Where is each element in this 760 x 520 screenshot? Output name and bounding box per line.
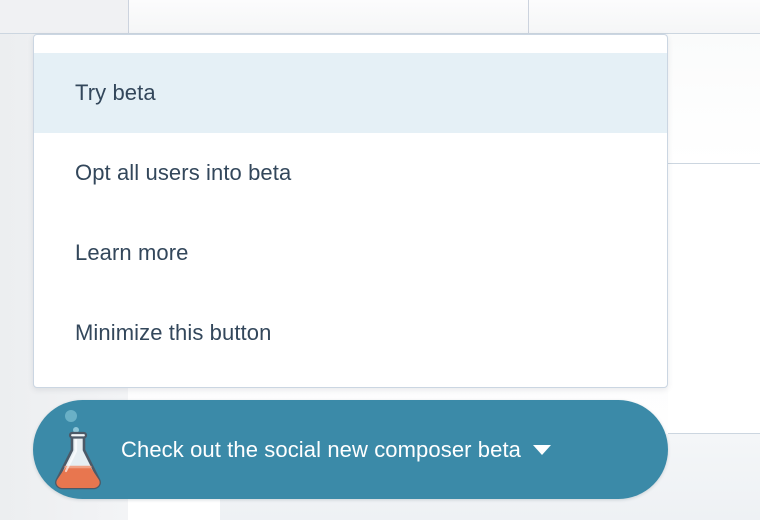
background-header-middle-cell: [128, 0, 528, 33]
menu-item-label: Learn more: [75, 240, 189, 266]
menu-item-try-beta[interactable]: Try beta: [34, 53, 667, 133]
screen-root: Try beta Opt all users into beta Learn m…: [0, 0, 760, 520]
menu-item-minimize-button[interactable]: Minimize this button: [34, 293, 667, 373]
background-header-right-cell: [529, 0, 760, 33]
menu-item-label: Try beta: [75, 80, 156, 106]
chevron-down-icon[interactable]: [533, 445, 551, 455]
flask-icon: [49, 409, 111, 491]
menu-item-opt-all-users[interactable]: Opt all users into beta: [34, 133, 667, 213]
beta-promo-button[interactable]: Check out the social new composer beta: [33, 400, 668, 499]
background-row-divider-upper: [668, 163, 760, 164]
background-column-divider-left: [128, 0, 129, 33]
background-column-divider-right: [528, 0, 529, 33]
beta-options-menu: Try beta Opt all users into beta Learn m…: [33, 34, 668, 388]
beta-promo-label: Check out the social new composer beta: [121, 437, 521, 463]
menu-item-label: Opt all users into beta: [75, 160, 291, 186]
beta-options-list: Try beta Opt all users into beta Learn m…: [34, 53, 667, 373]
background-right-strip-lower: [668, 164, 760, 433]
background-right-strip-upper: [668, 34, 760, 163]
background-row-divider-lower: [668, 433, 760, 434]
menu-item-label: Minimize this button: [75, 320, 271, 346]
menu-item-learn-more[interactable]: Learn more: [34, 213, 667, 293]
background-header-left-cell: [0, 0, 128, 33]
